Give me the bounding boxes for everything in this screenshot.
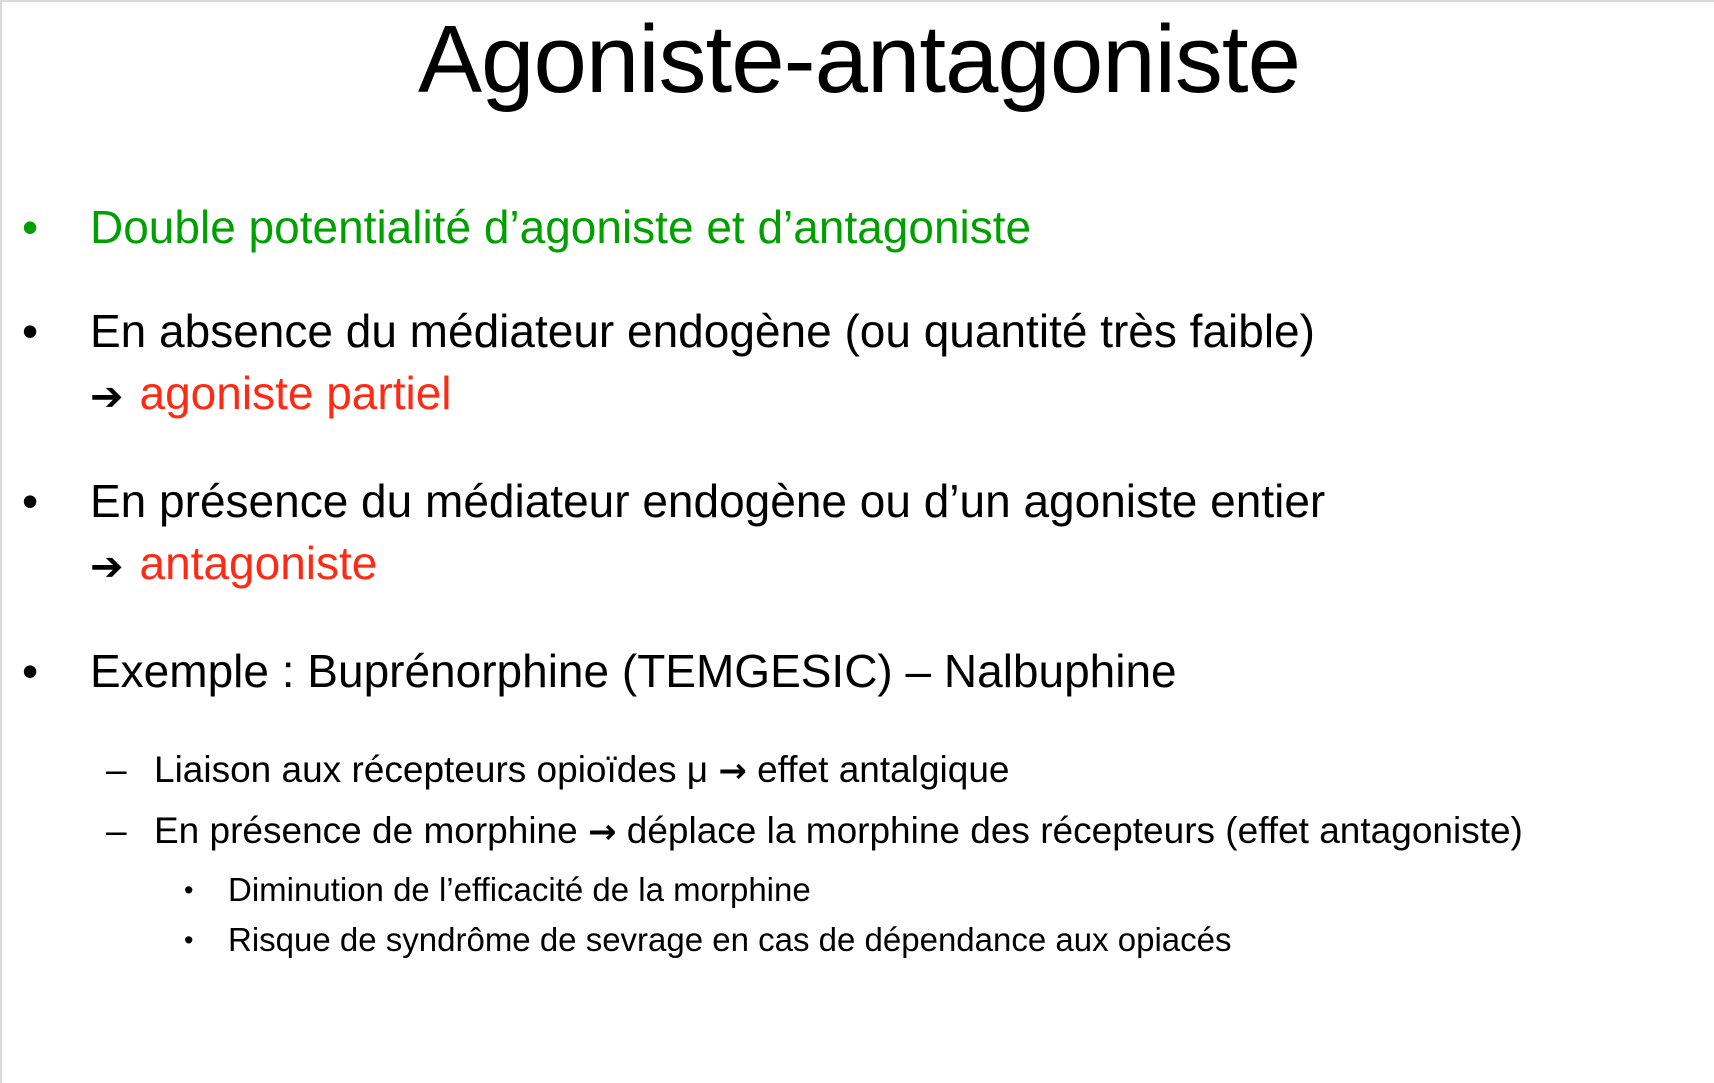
- bullet-marker-icon: •: [184, 917, 193, 963]
- bullet-subline-2: ➔agoniste partiel: [90, 363, 1714, 427]
- sub-bullet-item-1: – Liaison aux récepteurs opioïdes μ → ef…: [2, 745, 1714, 796]
- dash-marker-icon: –: [106, 745, 127, 794]
- sub-sub-bullet-text-2: Risque de syndrôme de sevrage en cas de …: [228, 921, 1232, 958]
- arrow-right-icon: →: [588, 812, 617, 852]
- bullet-marker-icon: •: [184, 867, 193, 913]
- bullet-text-2: En absence du médiateur endogène (ou qua…: [90, 305, 1315, 357]
- bullet-text-4: Exemple : Buprénorphine (TEMGESIC) – Nal…: [90, 645, 1177, 697]
- bullet-item-3: • En présence du médiateur endogène ou d…: [2, 471, 1714, 597]
- page-title: Agoniste-antagoniste: [2, 8, 1714, 112]
- sub-bullet-line-2: En présence de morphine → déplace la mor…: [154, 806, 1714, 857]
- slide-body: • Double potentialité d’agoniste et d’an…: [2, 197, 1714, 967]
- arrow-right-icon: ➔: [90, 367, 124, 427]
- dash-marker-icon: –: [106, 806, 127, 855]
- bullet-item-1: • Double potentialité d’agoniste et d’an…: [2, 197, 1714, 257]
- sub-sub-bullet-item-1: • Diminution de l’efficacité de la morph…: [2, 867, 1714, 913]
- bullet-subtext-3: antagoniste: [140, 537, 378, 589]
- bullet-marker-icon: •: [22, 301, 38, 361]
- sub-bullet-text-2-after: déplace la morphine des récepteurs (effe…: [617, 810, 1523, 851]
- bullet-subline-3: ➔antagoniste: [90, 533, 1714, 597]
- bullet-text-3: En présence du médiateur endogène ou d’u…: [90, 475, 1325, 527]
- sub-bullet-line-1: Liaison aux récepteurs opioïdes μ → effe…: [154, 745, 1714, 796]
- bullet-item-2: • En absence du médiateur endogène (ou q…: [2, 301, 1714, 427]
- bullet-marker-icon: •: [22, 641, 38, 701]
- bullet-subtext-2: agoniste partiel: [140, 367, 452, 419]
- bullet-text-1: Double potentialité d’agoniste et d’anta…: [90, 201, 1031, 253]
- bullet-marker-icon: •: [22, 471, 38, 531]
- bullet-item-4: • Exemple : Buprénorphine (TEMGESIC) – N…: [2, 641, 1714, 701]
- sub-sub-bullet-text-1: Diminution de l’efficacité de la morphin…: [228, 871, 811, 908]
- arrow-right-icon: ➔: [90, 537, 124, 597]
- arrow-right-icon: →: [718, 751, 747, 791]
- slide-canvas: Agoniste-antagoniste • Double potentiali…: [0, 0, 1714, 1083]
- sub-bullet-text-2-before: En présence de morphine: [154, 810, 588, 851]
- sub-bullet-text-1-after: effet antalgique: [747, 749, 1010, 790]
- sub-bullet-item-2: – En présence de morphine → déplace la m…: [2, 806, 1714, 857]
- sub-bullet-text-1-before: Liaison aux récepteurs opioïdes μ: [154, 749, 718, 790]
- bullet-marker-icon: •: [22, 197, 38, 257]
- sub-sub-bullet-item-2: • Risque de syndrôme de sevrage en cas d…: [2, 917, 1714, 963]
